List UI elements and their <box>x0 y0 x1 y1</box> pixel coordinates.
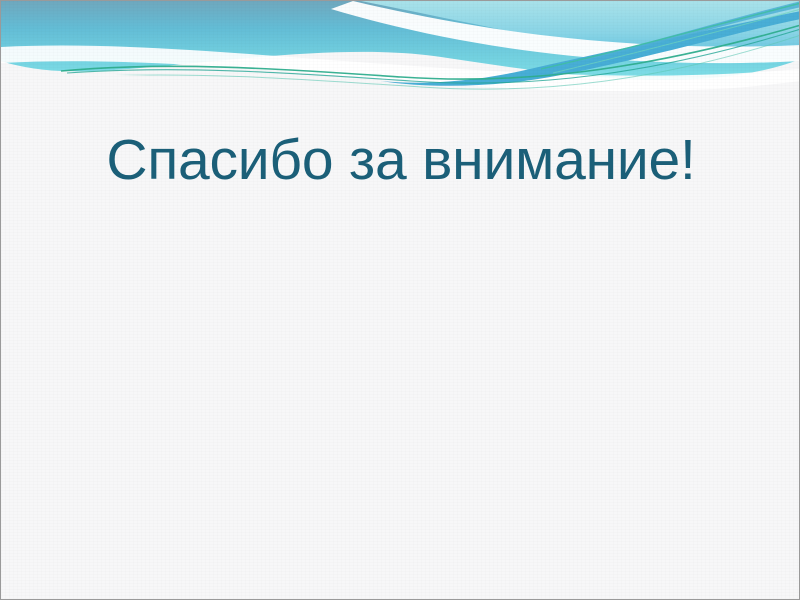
slide-title-placeholder[interactable]: Спасибо за внимание! <box>1 129 800 193</box>
wave-banner-svg <box>1 1 800 121</box>
slide-body-placeholder[interactable] <box>61 236 741 556</box>
slide-title-text: Спасибо за внимание! <box>106 129 695 193</box>
wave-banner-decoration <box>1 1 800 121</box>
slide-canvas: Спасибо за внимание! <box>0 0 800 600</box>
